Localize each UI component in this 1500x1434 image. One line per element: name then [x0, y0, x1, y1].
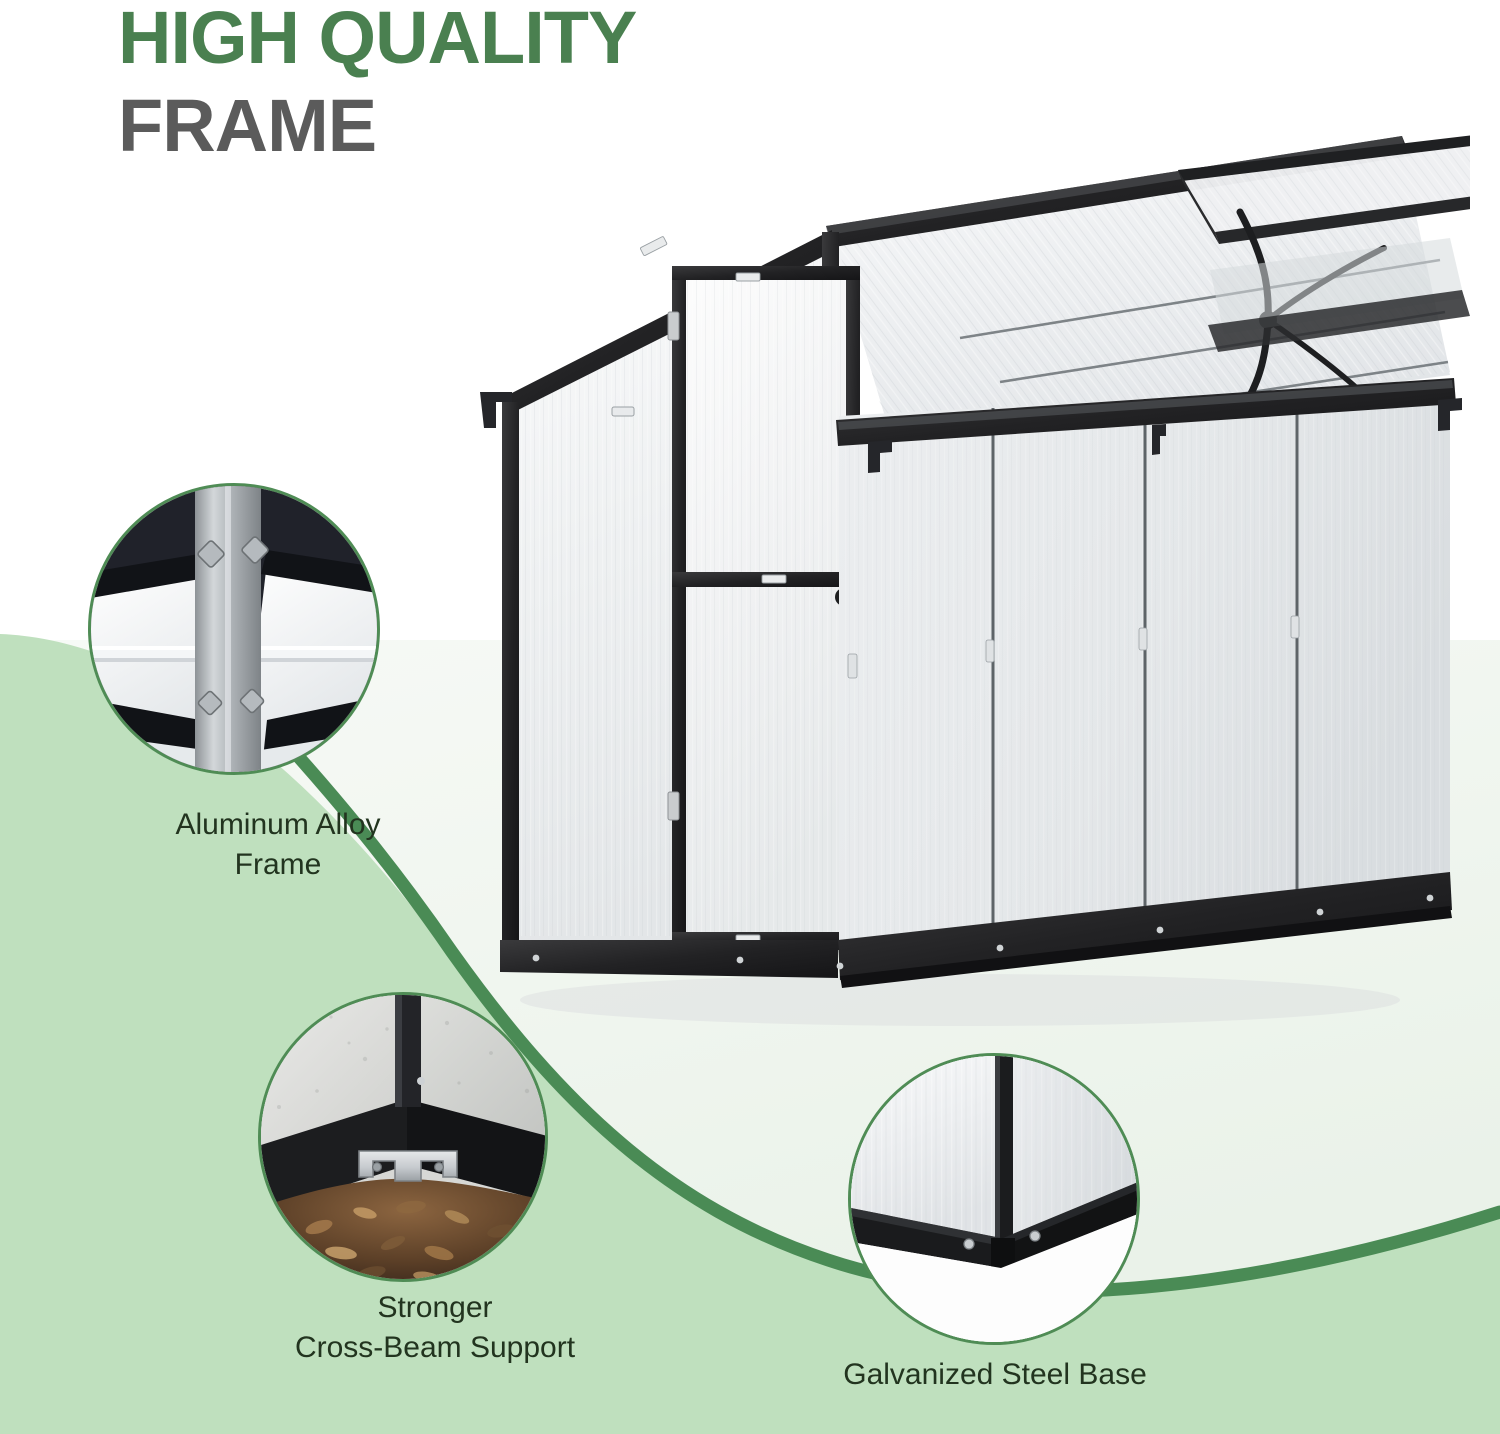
front-left-post — [502, 402, 519, 950]
door-hinge-bottom — [668, 792, 679, 820]
callout-cross-beam-support[interactable] — [258, 992, 548, 1282]
front-base-rail — [500, 940, 838, 978]
headline-line-1: HIGH QUALITY — [118, 2, 636, 74]
gable-label — [640, 236, 667, 256]
caption-galvanized-steel-base: Galvanized Steel Base — [770, 1355, 1220, 1395]
side-panel-clip-1 — [986, 640, 994, 662]
base-bolt-right — [1030, 1231, 1040, 1241]
door-label-top — [736, 273, 760, 281]
callout-galvanized-steel-base[interactable] — [848, 1053, 1140, 1345]
side-panel-clip-2 — [1139, 628, 1147, 650]
caption-aluminum-alloy-frame: Aluminum Alloy Frame — [78, 805, 478, 884]
side-panel-clip-3 — [1291, 616, 1299, 638]
base-bolt-left — [964, 1239, 974, 1249]
side-panel-clip-4 — [848, 654, 857, 678]
greenhouse-product-image — [440, 120, 1470, 1050]
anchor-bracket — [359, 1151, 457, 1181]
panel-clip — [612, 407, 634, 416]
callout-aluminum-alloy-frame[interactable] — [88, 483, 380, 775]
infographic-canvas: HIGH QUALITY FRAME — [0, 0, 1500, 1434]
caption-cross-beam-support: Stronger Cross-Beam Support — [205, 1288, 665, 1367]
post-bolt — [417, 1077, 425, 1085]
door-label-mid — [762, 575, 786, 583]
door-hinge-top — [668, 312, 679, 340]
